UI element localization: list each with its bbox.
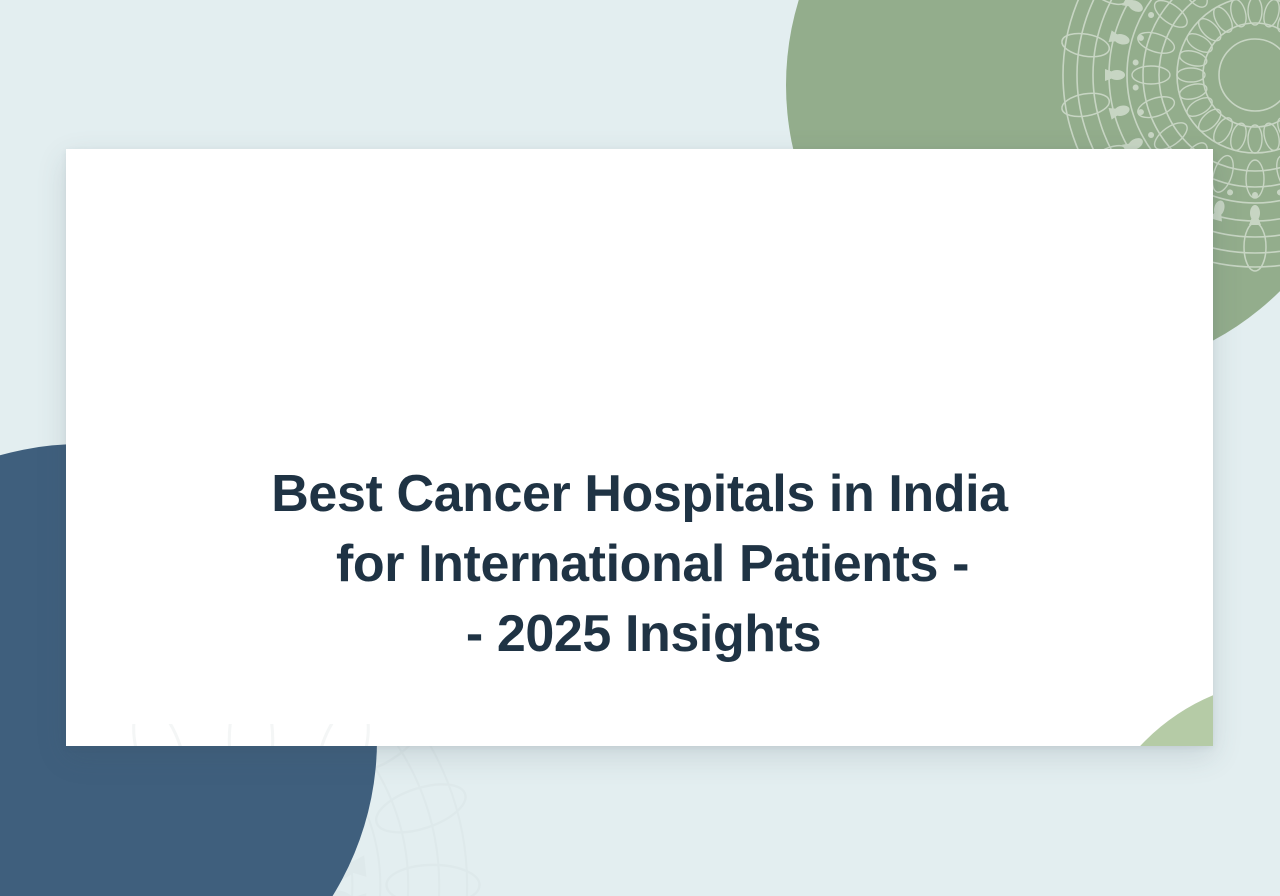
- title-line-2: for International Patients -: [186, 529, 1093, 599]
- green-circle-bottom-right: [1084, 679, 1213, 746]
- slide-title: Best Cancer Hospitals in India for Inter…: [66, 459, 1213, 669]
- title-line-1: Best Cancer Hospitals in India: [186, 459, 1093, 529]
- slide-content-card: Best Cancer Hospitals in India for Inter…: [66, 149, 1213, 746]
- mandala-pattern-icon-card: [66, 724, 561, 746]
- title-line-3: - 2025 Insights: [186, 599, 1093, 669]
- slide-canvas: Best Cancer Hospitals in India for Inter…: [0, 0, 1280, 896]
